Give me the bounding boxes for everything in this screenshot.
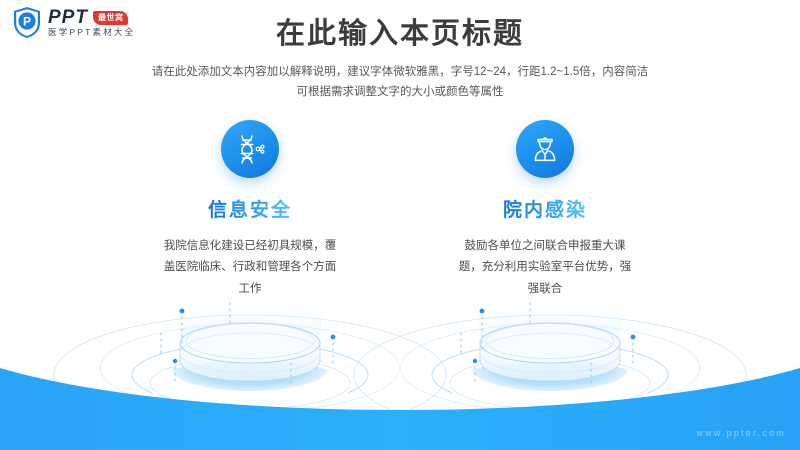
icon-badge-information-security[interactable]: [221, 120, 279, 178]
bottom-wave-decoration: [0, 360, 800, 450]
doctor-icon: [528, 132, 562, 166]
dna-helix-icon: [233, 132, 267, 166]
subtitle-line-1: 请在此处添加文本内容加以解释说明，建议字体微软雅黑，字号12~24，行距1.2~…: [0, 62, 800, 82]
slide-canvas: P PPT 最世窝 医学PPT素材大全 在此输入本页标题 请在此处添加文本内容加…: [0, 0, 800, 450]
content-column-hospital-infection: 院内感染 鼓励各单位之间联合申报重大课题，充分利用实验室平台优势，强强联合: [395, 120, 695, 300]
column-heading-information-security: 信息安全: [208, 195, 292, 222]
column-heading-hospital-infection: 院内感染: [503, 195, 587, 222]
content-column-information-security: 信息安全 我院信息化建设已经初具规模，覆盖医院临床、行政和管理各个方面工作: [100, 120, 400, 300]
subtitle-line-2: 可根据需求调整文字的大小或颜色等属性: [0, 82, 800, 102]
column-body-hospital-infection: 鼓励各单位之间联合申报重大课题，充分利用实验室平台优势，强强联合: [455, 236, 635, 300]
page-title: 在此输入本页标题: [0, 17, 800, 52]
site-watermark: www.ppter.com: [696, 428, 786, 438]
column-body-information-security: 我院信息化建设已经初具规模，覆盖医院临床、行政和管理各个方面工作: [160, 236, 340, 300]
page-subtitle: 请在此处添加文本内容加以解释说明，建议字体微软雅黑，字号12~24，行距1.2~…: [0, 62, 800, 102]
icon-badge-hospital-infection[interactable]: [516, 120, 574, 178]
